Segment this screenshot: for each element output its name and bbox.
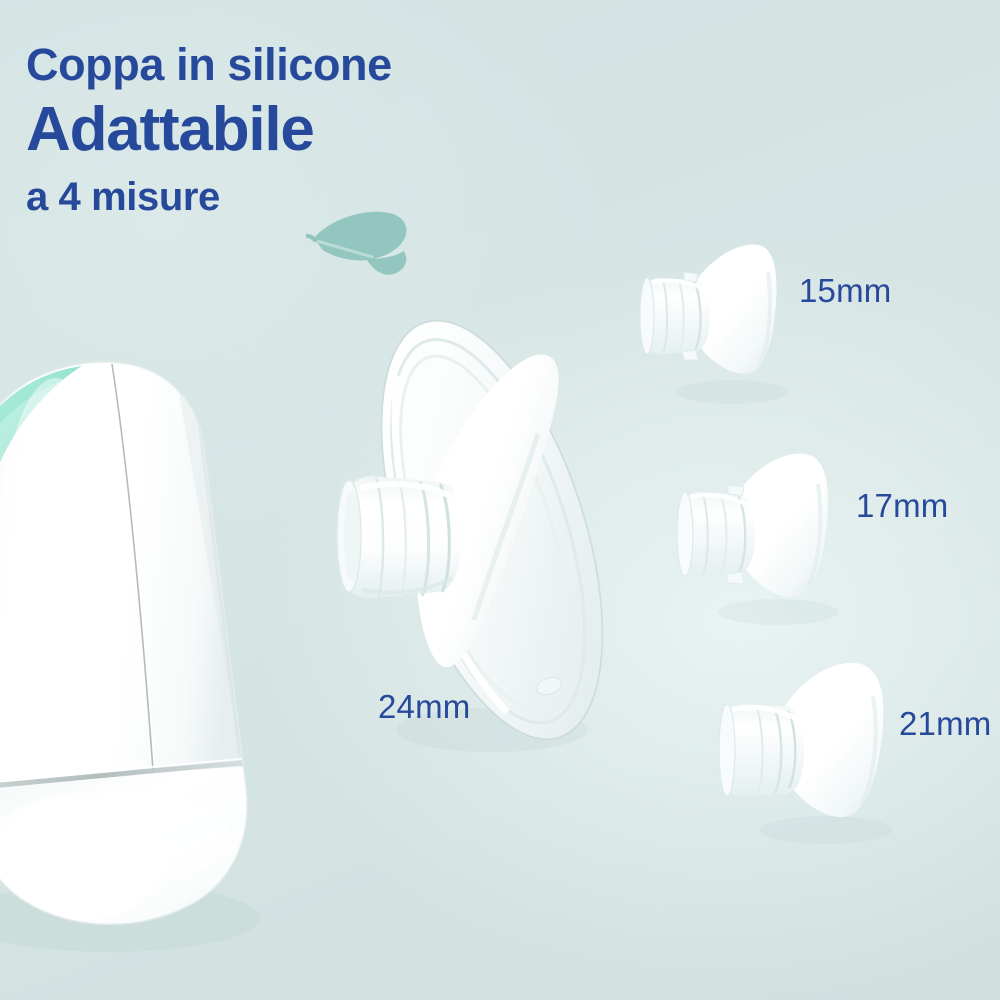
size-label-24mm: 24mm: [378, 688, 471, 726]
size-label-15mm: 15mm: [799, 272, 892, 310]
size-label-21mm: 21mm: [899, 705, 992, 743]
headline-line-1: Coppa in silicone: [26, 42, 392, 87]
headline-line-2: Adattabile: [26, 99, 392, 161]
product-marketing-image: Coppa in silicone Adattabile a 4 misure: [0, 0, 1000, 1000]
headline-line-3: a 4 misure: [26, 177, 392, 217]
headline-block: Coppa in silicone Adattabile a 4 misure: [26, 42, 392, 217]
size-label-17mm: 17mm: [856, 487, 949, 525]
